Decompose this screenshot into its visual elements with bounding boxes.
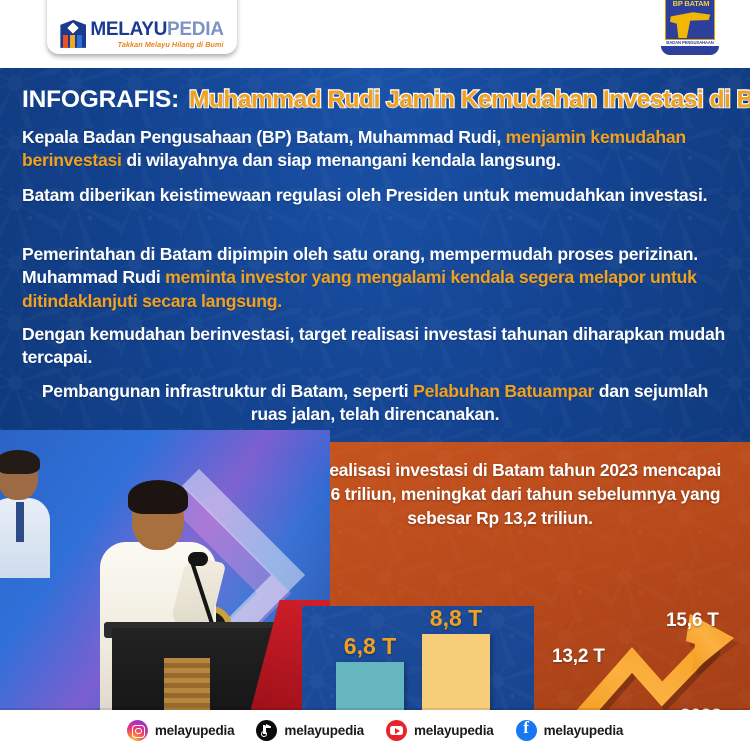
paragraph-1: Kepala Badan Pengusahaan (BP) Batam, Muh… [22, 126, 728, 173]
paragraph-5-highlight: Pelabuhan Batuampar [413, 381, 594, 401]
instagram-icon [127, 720, 148, 741]
bar-group-pmdn: 6,8 T PMDN [336, 633, 404, 710]
social-handle-youtube: melayupedia [414, 723, 494, 738]
speaker-photo-image [0, 430, 330, 710]
bar-rect-pmdn: PMDN [336, 662, 404, 710]
bp-batam-logo[interactable]: BP BATAM BADAN PENGUSAHAAN BATAM [659, 0, 721, 52]
social-instagram[interactable]: melayupedia [127, 720, 235, 741]
infografis-label: INFOGRAFIS: [22, 86, 179, 114]
bar-chart-bars: 6,8 T PMDN 8,8 T PMA [302, 614, 534, 710]
bar-rect-pma: PMA [422, 634, 490, 710]
brand-word-primary: MELAYU [90, 19, 167, 40]
trend-arrow-chart: 13,2 T 15,6 T 2022 2023 [540, 598, 750, 710]
social-tiktok[interactable]: melayupedia [256, 720, 364, 741]
infographic-poster: INFOGRAFIS: Muhammad Rudi Jamin Kemudaha… [0, 0, 750, 750]
social-footer: melayupedia melayupedia melayupedia mela… [0, 710, 750, 750]
speaker-photo [0, 412, 330, 710]
bar-value-pma: 8,8 T [430, 606, 482, 632]
podium-wood-panel [164, 658, 210, 710]
social-handle-facebook: melayupedia [544, 723, 624, 738]
social-facebook[interactable]: melayupedia [516, 720, 624, 741]
backdrop-portrait [0, 454, 44, 574]
brand-word-secondary: PEDIA [167, 19, 224, 40]
melayupedia-logo[interactable]: MELAYUPEDIA Takkan Melayu Hilang di Bumi [47, 0, 237, 54]
paragraph-2: Batam diberikan keistimewaan regulasi ol… [22, 184, 728, 207]
speaker-hair [128, 480, 188, 514]
brand-tagline: Takkan Melayu Hilang di Bumi [90, 41, 223, 48]
paragraph-1-text-a: Kepala Badan Pengusahaan (BP) Batam, Muh… [22, 127, 506, 147]
microphone-head [188, 552, 208, 566]
bp-batam-title: BP BATAM [666, 0, 716, 8]
social-youtube[interactable]: melayupedia [386, 720, 494, 741]
paragraph-5-text-a: Pembangunan infrastruktur di Batam, sepe… [42, 381, 413, 401]
statistics-text: Total realisasi investasi di Batam tahun… [270, 458, 730, 530]
page-title: Muhammad Rudi Jamin Kemudahan Investasi … [189, 86, 750, 114]
header-bar: MELAYUPEDIA Takkan Melayu Hilang di Bumi… [0, 0, 750, 68]
melayupedia-mark-icon [60, 20, 86, 48]
social-handle-tiktok: melayupedia [284, 723, 364, 738]
paragraph-4: Dengan kemudahan berinvestasi, target re… [22, 323, 728, 370]
bp-batam-emblem-icon [670, 8, 712, 38]
youtube-icon [386, 720, 407, 741]
paragraph-1-text-b: di wilayahnya dan siap menangani kendala… [122, 150, 561, 170]
bp-batam-subtitle: BADAN PENGUSAHAAN BATAM [659, 40, 721, 50]
title-row: INFOGRAFIS: Muhammad Rudi Jamin Kemudaha… [22, 86, 740, 114]
bar-group-pma: 8,8 T PMA [422, 606, 490, 710]
bar-value-pmdn: 6,8 T [344, 633, 396, 660]
paragraph-3: Pemerintahan di Batam dipimpin oleh satu… [22, 243, 728, 313]
bar-chart: 6,8 T PMDN 8,8 T PMA Investasi 2023 [302, 606, 534, 710]
facebook-icon [516, 720, 537, 741]
main-blue-background: INFOGRAFIS: Muhammad Rudi Jamin Kemudaha… [0, 68, 750, 710]
tiktok-icon [256, 720, 277, 741]
trend-value-2023: 15,6 T [666, 610, 719, 632]
social-handle-instagram: melayupedia [155, 723, 235, 738]
trend-value-2022: 13,2 T [552, 646, 605, 668]
